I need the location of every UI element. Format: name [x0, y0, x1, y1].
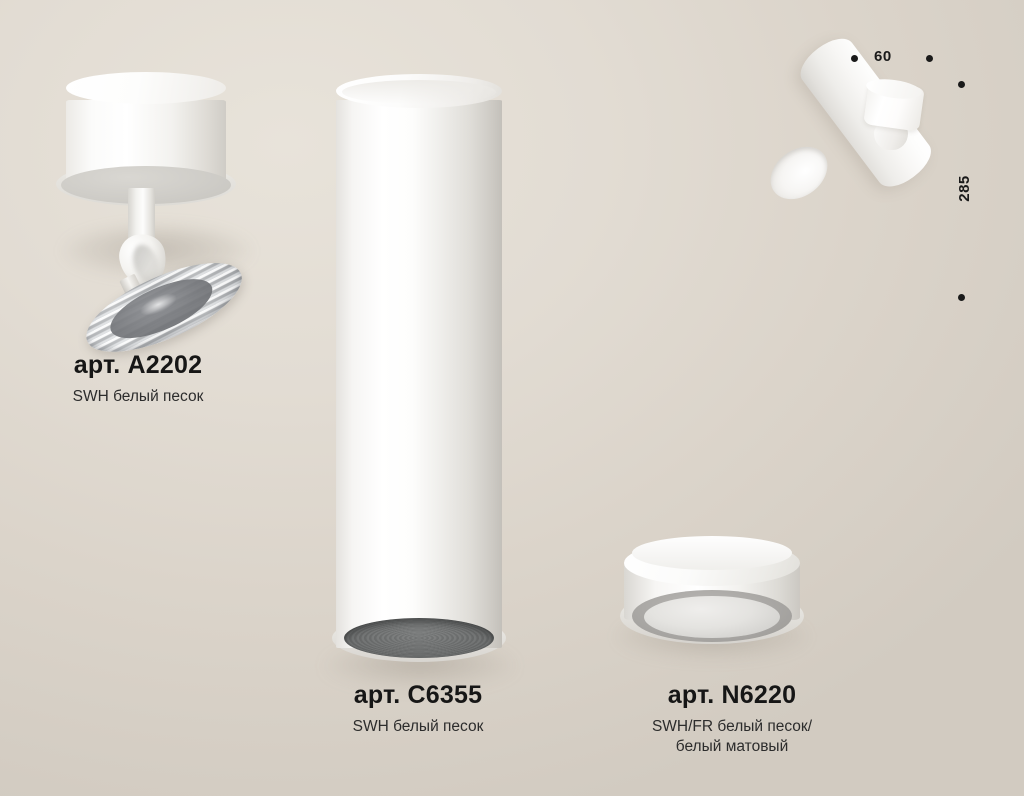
- article-description-n6220: SWH/FR белый песок/ белый матовый: [612, 717, 852, 758]
- article-code-a2202: арт. A2202: [18, 352, 258, 380]
- module-diffuser-lens: [644, 596, 780, 638]
- base-top-cap: [66, 72, 226, 104]
- label-a2202: арт. A2202 SWH белый песок: [18, 352, 258, 407]
- label-c6355: арт. C6355 SWH белый песок: [298, 682, 538, 737]
- dimension-width-value: 60: [874, 48, 892, 65]
- product-image-c6355: [330, 86, 506, 656]
- cylinder-top-edge: [342, 80, 496, 104]
- product-image-a2202: [52, 84, 277, 334]
- module-top-lip: [632, 536, 792, 570]
- article-code-c6355: арт. C6355: [298, 682, 538, 710]
- assembled-product-image: [762, 78, 952, 318]
- cylinder-inner-cavity: [344, 618, 494, 658]
- article-description-c6355: SWH белый песок: [298, 717, 538, 737]
- cylinder-body: [336, 100, 502, 648]
- article-code-n6220: арт. N6220: [612, 682, 852, 710]
- dimension-dot-height-bottom: [958, 294, 965, 301]
- dimension-dot-width-right: [926, 55, 933, 62]
- article-description-a2202: SWH белый песок: [18, 387, 258, 407]
- dimension-dot-height-top: [958, 81, 965, 88]
- product-sheet: арт. A2202 SWH белый песок арт. C6355 SW…: [0, 0, 1024, 796]
- dimension-dot-width-left: [851, 55, 858, 62]
- dimension-height-value: 285: [956, 175, 973, 202]
- product-image-n6220: [612, 536, 812, 668]
- assembly-tube-lens-end: [760, 136, 837, 210]
- label-n6220: арт. N6220 SWH/FR белый песок/ белый мат…: [612, 682, 852, 757]
